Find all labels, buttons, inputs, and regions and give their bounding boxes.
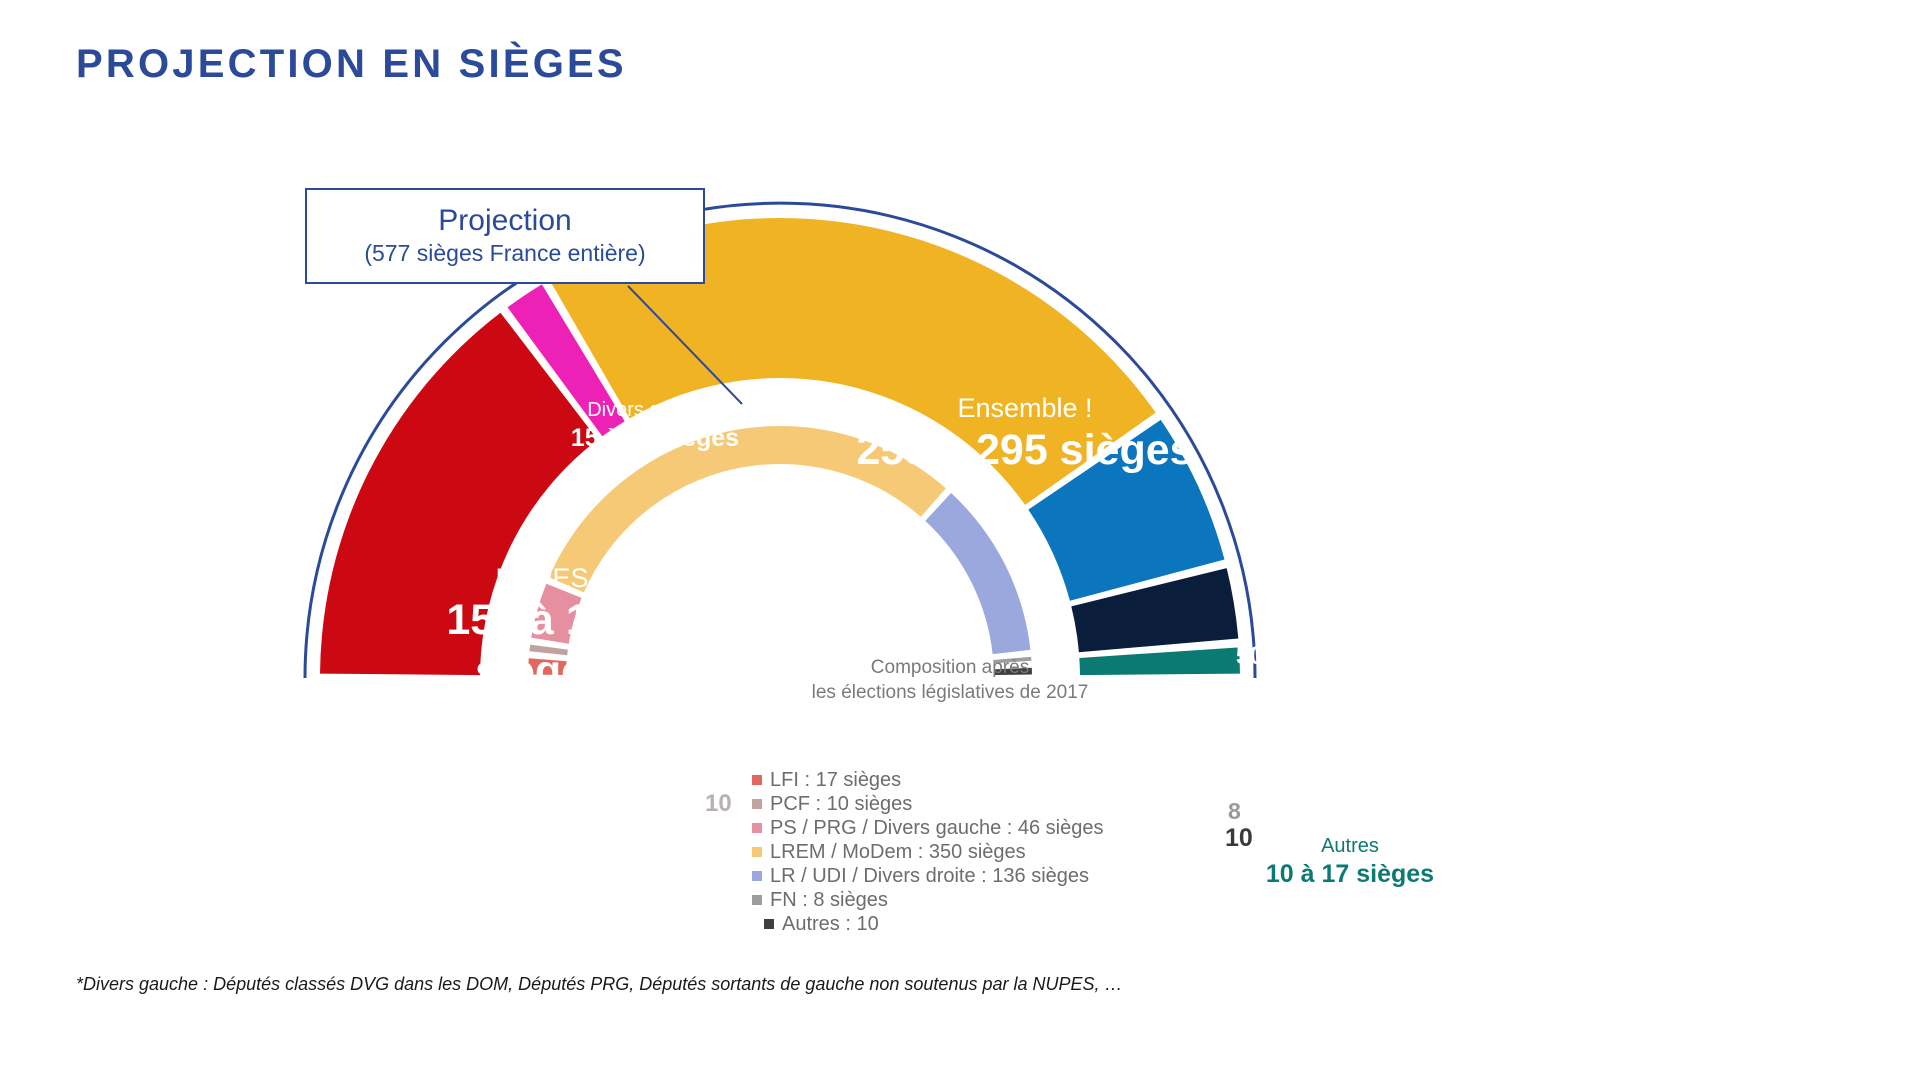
legend-swatch <box>752 847 762 857</box>
inner-ring-segment <box>925 493 1030 654</box>
legend-label: FN : 8 sièges <box>770 889 888 912</box>
legend-label: LREM / MoDem : 350 sièges <box>770 841 1026 864</box>
inner-ring-group <box>528 426 1032 675</box>
inner-ring-segment <box>549 426 946 592</box>
inner-ring-segment <box>993 657 1031 664</box>
inner-ring-segment <box>528 658 567 675</box>
legend-swatch <box>752 823 762 833</box>
legend-swatch <box>752 871 762 881</box>
callout-subtitle: (577 sièges France entière) <box>364 240 645 268</box>
legend-label: LR / UDI / Divers droite : 136 sièges <box>770 865 1089 888</box>
legend-item: PCF : 10 sièges <box>752 792 1104 816</box>
callout-title: Projection <box>438 204 571 238</box>
legend-label: PS / PRG / Divers gauche : 46 sièges <box>770 817 1104 840</box>
footnote: *Divers gauche : Députés classés DVG dan… <box>76 974 1123 995</box>
legend: LFI : 17 siègesPCF : 10 siègesPS / PRG /… <box>752 768 1104 936</box>
legend-item: Autres : 10 <box>752 912 1104 936</box>
legend-swatch <box>752 775 762 785</box>
inner-ring-segment <box>994 668 1032 675</box>
legend-swatch <box>764 919 774 929</box>
legend-label: Autres : 10 <box>782 913 879 936</box>
legend-swatch <box>752 895 762 905</box>
legend-swatch <box>752 799 762 809</box>
legend-item: PS / PRG / Divers gauche : 46 sièges <box>752 816 1104 840</box>
legend-label: LFI : 17 sièges <box>770 769 901 792</box>
legend-item: LREM / MoDem : 350 sièges <box>752 840 1104 864</box>
legend-item: FN : 8 sièges <box>752 888 1104 912</box>
legend-label: PCF : 10 sièges <box>770 793 912 816</box>
inner-ring-segment <box>531 584 581 644</box>
legend-item: LFI : 17 sièges <box>752 768 1104 792</box>
inner-ring-segment <box>529 645 567 656</box>
callout-box: Projection (577 sièges France entière) <box>305 188 705 284</box>
outer-ring-segment <box>1079 647 1240 675</box>
legend-item: LR / UDI / Divers droite : 136 sièges <box>752 864 1104 888</box>
